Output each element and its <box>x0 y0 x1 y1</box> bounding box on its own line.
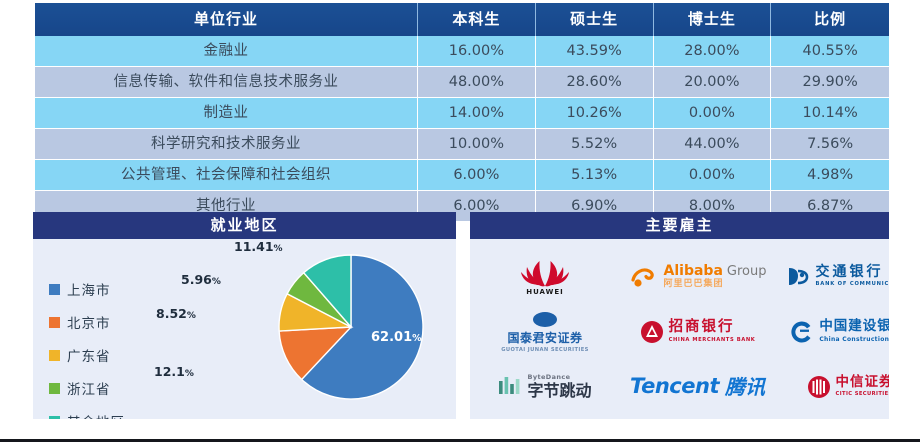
legend-swatch-other <box>49 416 60 420</box>
cell-master: 5.13% <box>536 160 654 191</box>
cell-doctor: 20.00% <box>654 67 772 98</box>
cell-master: 10.26% <box>536 98 654 129</box>
cell-industry-name: 科学研究和技术服务业 <box>35 129 418 160</box>
logo-tencent[interactable]: Tencent 腾讯 <box>620 361 775 413</box>
logo-alibaba[interactable]: Alibaba Group 阿里巴巴集团 <box>623 251 773 303</box>
cell-ratio: 40.55% <box>771 36 889 67</box>
bytedance-bars-icon <box>498 376 522 398</box>
legend-item-shanghai[interactable]: 上海市 <box>49 279 125 299</box>
legend-label-guangdong: 广东省 <box>67 345 111 365</box>
logo-bytedance-en: ByteDance <box>527 374 591 381</box>
pie-callout-beijing: 12.1% <box>154 364 194 379</box>
employer-logo-grid: HUAWEI Alibaba Group 阿里巴巴集团 <box>470 249 889 414</box>
logo-citic-en: CITIC SECURITIES <box>836 392 890 397</box>
cell-doctor: 0.00% <box>654 98 772 129</box>
logo-bocom-cn: 交通银行 <box>816 265 889 279</box>
column-header-bachelor: 本科生 <box>418 3 536 36</box>
cmb-icon <box>640 320 664 344</box>
pie-callout-guangdong: 8.52% <box>156 306 196 321</box>
legend-swatch-guangdong <box>49 350 60 361</box>
cell-industry-name: 制造业 <box>35 98 418 129</box>
logo-alibaba-group: Group <box>727 265 767 278</box>
table-row: 金融业 16.00% 43.59% 28.00% 40.55% <box>35 36 889 67</box>
cell-industry-name: 信息传输、软件和信息技术服务业 <box>35 67 418 98</box>
legend-label-shanghai: 上海市 <box>67 279 111 299</box>
legend-swatch-zhejiang <box>49 383 60 394</box>
cell-master: 28.60% <box>536 67 654 98</box>
cell-bachelor: 14.00% <box>418 98 536 129</box>
pie-label-shanghai: 62.01% <box>371 330 422 345</box>
cell-doctor: 28.00% <box>654 36 772 67</box>
logo-china-merchants-bank[interactable]: 招商银行 CHINA MERCHANTS BANK <box>623 306 773 358</box>
logo-tencent-cn: 腾讯 <box>725 377 765 397</box>
major-employers-panel: 主要雇主 HUAWEI <box>470 212 889 419</box>
industry-distribution-table: 单位行业 本科生 硕士生 博士生 比例 金融业 16.00% 43.59% 28… <box>35 3 889 222</box>
legend-item-beijing[interactable]: 北京市 <box>49 312 125 332</box>
logo-bank-of-communications[interactable]: 交通银行 BANK OF COMMUNICATIONS <box>775 251 889 303</box>
cell-bachelor: 10.00% <box>418 129 536 160</box>
cell-ratio: 10.14% <box>771 98 889 129</box>
table-row: 信息传输、软件和信息技术服务业 48.00% 28.60% 20.00% 29.… <box>35 67 889 98</box>
ccb-icon <box>790 320 814 344</box>
pie-legend: 上海市 北京市 广东省 浙江省 其余地区 <box>49 279 125 419</box>
table-row: 公共管理、社会保障和社会组织 6.00% 5.13% 0.00% 4.98% <box>35 160 889 191</box>
pie-slices <box>279 255 423 399</box>
citic-icon <box>807 375 831 399</box>
logo-citic-cn: 中信证券 <box>836 376 890 390</box>
legend-swatch-beijing <box>49 317 60 328</box>
table-row: 制造业 14.00% 10.26% 0.00% 10.14% <box>35 98 889 129</box>
pie-callout-other: 11.41% <box>234 239 283 254</box>
column-header-industry: 单位行业 <box>35 3 418 36</box>
cell-bachelor: 6.00% <box>418 160 536 191</box>
cell-doctor: 44.00% <box>654 129 772 160</box>
legend-label-other: 其余地区 <box>67 411 125 419</box>
pie-chart: 11.41% 5.96% 8.52% 12.1% 62.01% <box>158 241 448 419</box>
table-row: 科学研究和技术服务业 10.00% 5.52% 44.00% 7.56% <box>35 129 889 160</box>
employers-panel-title: 主要雇主 <box>470 212 889 239</box>
legend-label-zhejiang: 浙江省 <box>67 378 111 398</box>
huawei-flower-icon <box>519 257 571 287</box>
region-panel-title: 就业地区 <box>33 212 456 239</box>
table-header-row: 单位行业 本科生 硕士生 博士生 比例 <box>35 3 889 36</box>
logo-huawei[interactable]: HUAWEI <box>478 251 613 303</box>
logo-bocom-en: BANK OF COMMUNICATIONS <box>816 282 889 287</box>
logo-cmb-en: CHINA MERCHANTS BANK <box>669 338 756 343</box>
cell-ratio: 4.98% <box>771 160 889 191</box>
logo-tencent-en: Tencent <box>630 376 719 397</box>
legend-item-zhejiang[interactable]: 浙江省 <box>49 378 125 398</box>
cell-master: 43.59% <box>536 36 654 67</box>
logo-gtja-en: GUOTAI JUNAN SECURITIES <box>501 347 589 353</box>
cell-master: 5.52% <box>536 129 654 160</box>
column-header-ratio: 比例 <box>771 3 889 36</box>
cell-doctor: 0.00% <box>654 160 772 191</box>
column-header-master: 硕士生 <box>536 3 654 36</box>
employers-panel-body: HUAWEI Alibaba Group 阿里巴巴集团 <box>470 239 889 419</box>
employment-region-panel: 就业地区 上海市 北京市 广东省 浙江省 其余地区 <box>33 212 456 419</box>
logo-guotai-junan-securities[interactable]: 国泰君安证券 GUOTAI JUNAN SECURITIES <box>478 306 613 358</box>
region-panel-body: 上海市 北京市 广东省 浙江省 其余地区 <box>33 239 456 419</box>
legend-item-guangdong[interactable]: 广东省 <box>49 345 125 365</box>
logo-citic-securities[interactable]: 中信证券 CITIC SECURITIES <box>775 361 889 413</box>
logo-cmb-cn: 招商银行 <box>669 320 756 335</box>
cell-bachelor: 48.00% <box>418 67 536 98</box>
logo-china-construction-bank[interactable]: 中国建设银行 China Construction Bank <box>775 306 889 358</box>
pie-callout-zhejiang: 5.96% <box>181 272 221 287</box>
cell-industry-name: 公共管理、社会保障和社会组织 <box>35 160 418 191</box>
logo-ccb-en: China Construction Bank <box>819 337 889 343</box>
logo-bytedance[interactable]: ByteDance 字节跳动 <box>470 361 620 413</box>
cell-bachelor: 16.00% <box>418 36 536 67</box>
column-header-doctor: 博士生 <box>654 3 772 36</box>
cell-ratio: 7.56% <box>771 129 889 160</box>
gtja-icon <box>532 311 558 328</box>
bocom-icon <box>785 264 811 290</box>
logo-alibaba-cn: 阿里巴巴集团 <box>664 280 767 289</box>
legend-swatch-shanghai <box>49 284 60 295</box>
logo-ccb-cn: 中国建设银行 <box>819 320 889 334</box>
logo-huawei-text: HUAWEI <box>526 288 564 296</box>
alibaba-smile-icon <box>629 264 659 290</box>
legend-item-other[interactable]: 其余地区 <box>49 411 125 419</box>
logo-alibaba-name: Alibaba <box>664 264 723 278</box>
logo-gtja-cn: 国泰君安证券 <box>507 329 582 346</box>
cell-industry-name: 金融业 <box>35 36 418 67</box>
logo-bytedance-cn: 字节跳动 <box>527 383 591 399</box>
legend-label-beijing: 北京市 <box>67 312 111 332</box>
cell-ratio: 29.90% <box>771 67 889 98</box>
